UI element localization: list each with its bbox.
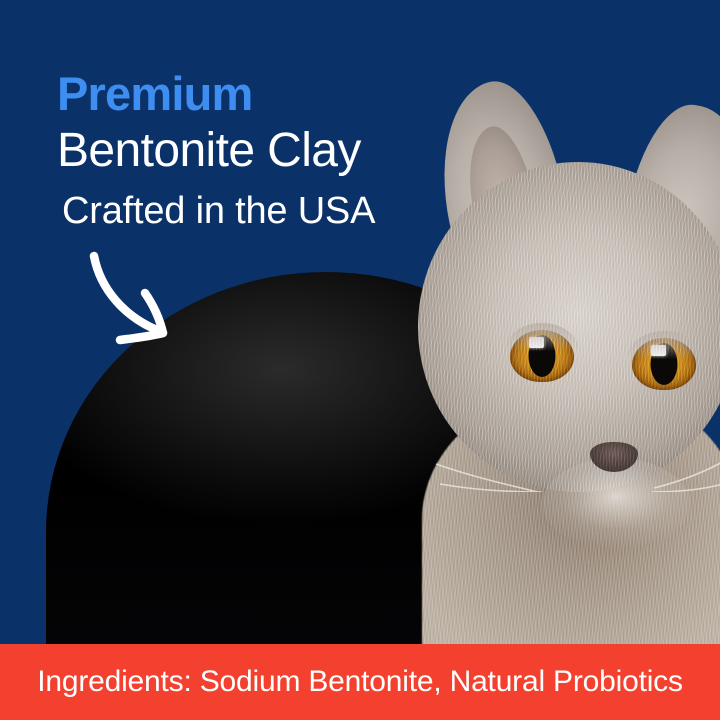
ingredients-text: Ingredients: Sodium Bentonite, Natural P… [37,665,683,699]
headline-accent: Premium [57,70,457,117]
cat-eye-left [510,330,574,382]
cat-pupil-left [529,335,556,377]
cat-nose [590,442,638,472]
page-title: Bentonite Clay [57,125,457,177]
product-marketing-banner: Premium Bentonite Clay Crafted in the US… [0,0,720,720]
cat-head [418,162,720,492]
ingredients-banner: Ingredients: Sodium Bentonite, Natural P… [0,644,720,720]
cat-eyelid-left [505,323,579,351]
cat-eye-glint-left [529,337,544,348]
cat-iris-right [632,338,696,390]
curved-arrow-icon [84,248,194,348]
cat-iris-left [510,330,574,382]
cat-eye-glint-right [651,345,666,356]
cat-eyelid-right [627,331,701,359]
headline-block: Premium Bentonite Clay Crafted in the US… [57,70,457,233]
cat-pupil-right [651,343,678,385]
cat-whiskers-icon [418,162,720,492]
cat-muzzle [542,458,690,550]
headline-subtitle: Crafted in the USA [57,191,457,233]
cat-eye-right [632,338,696,390]
